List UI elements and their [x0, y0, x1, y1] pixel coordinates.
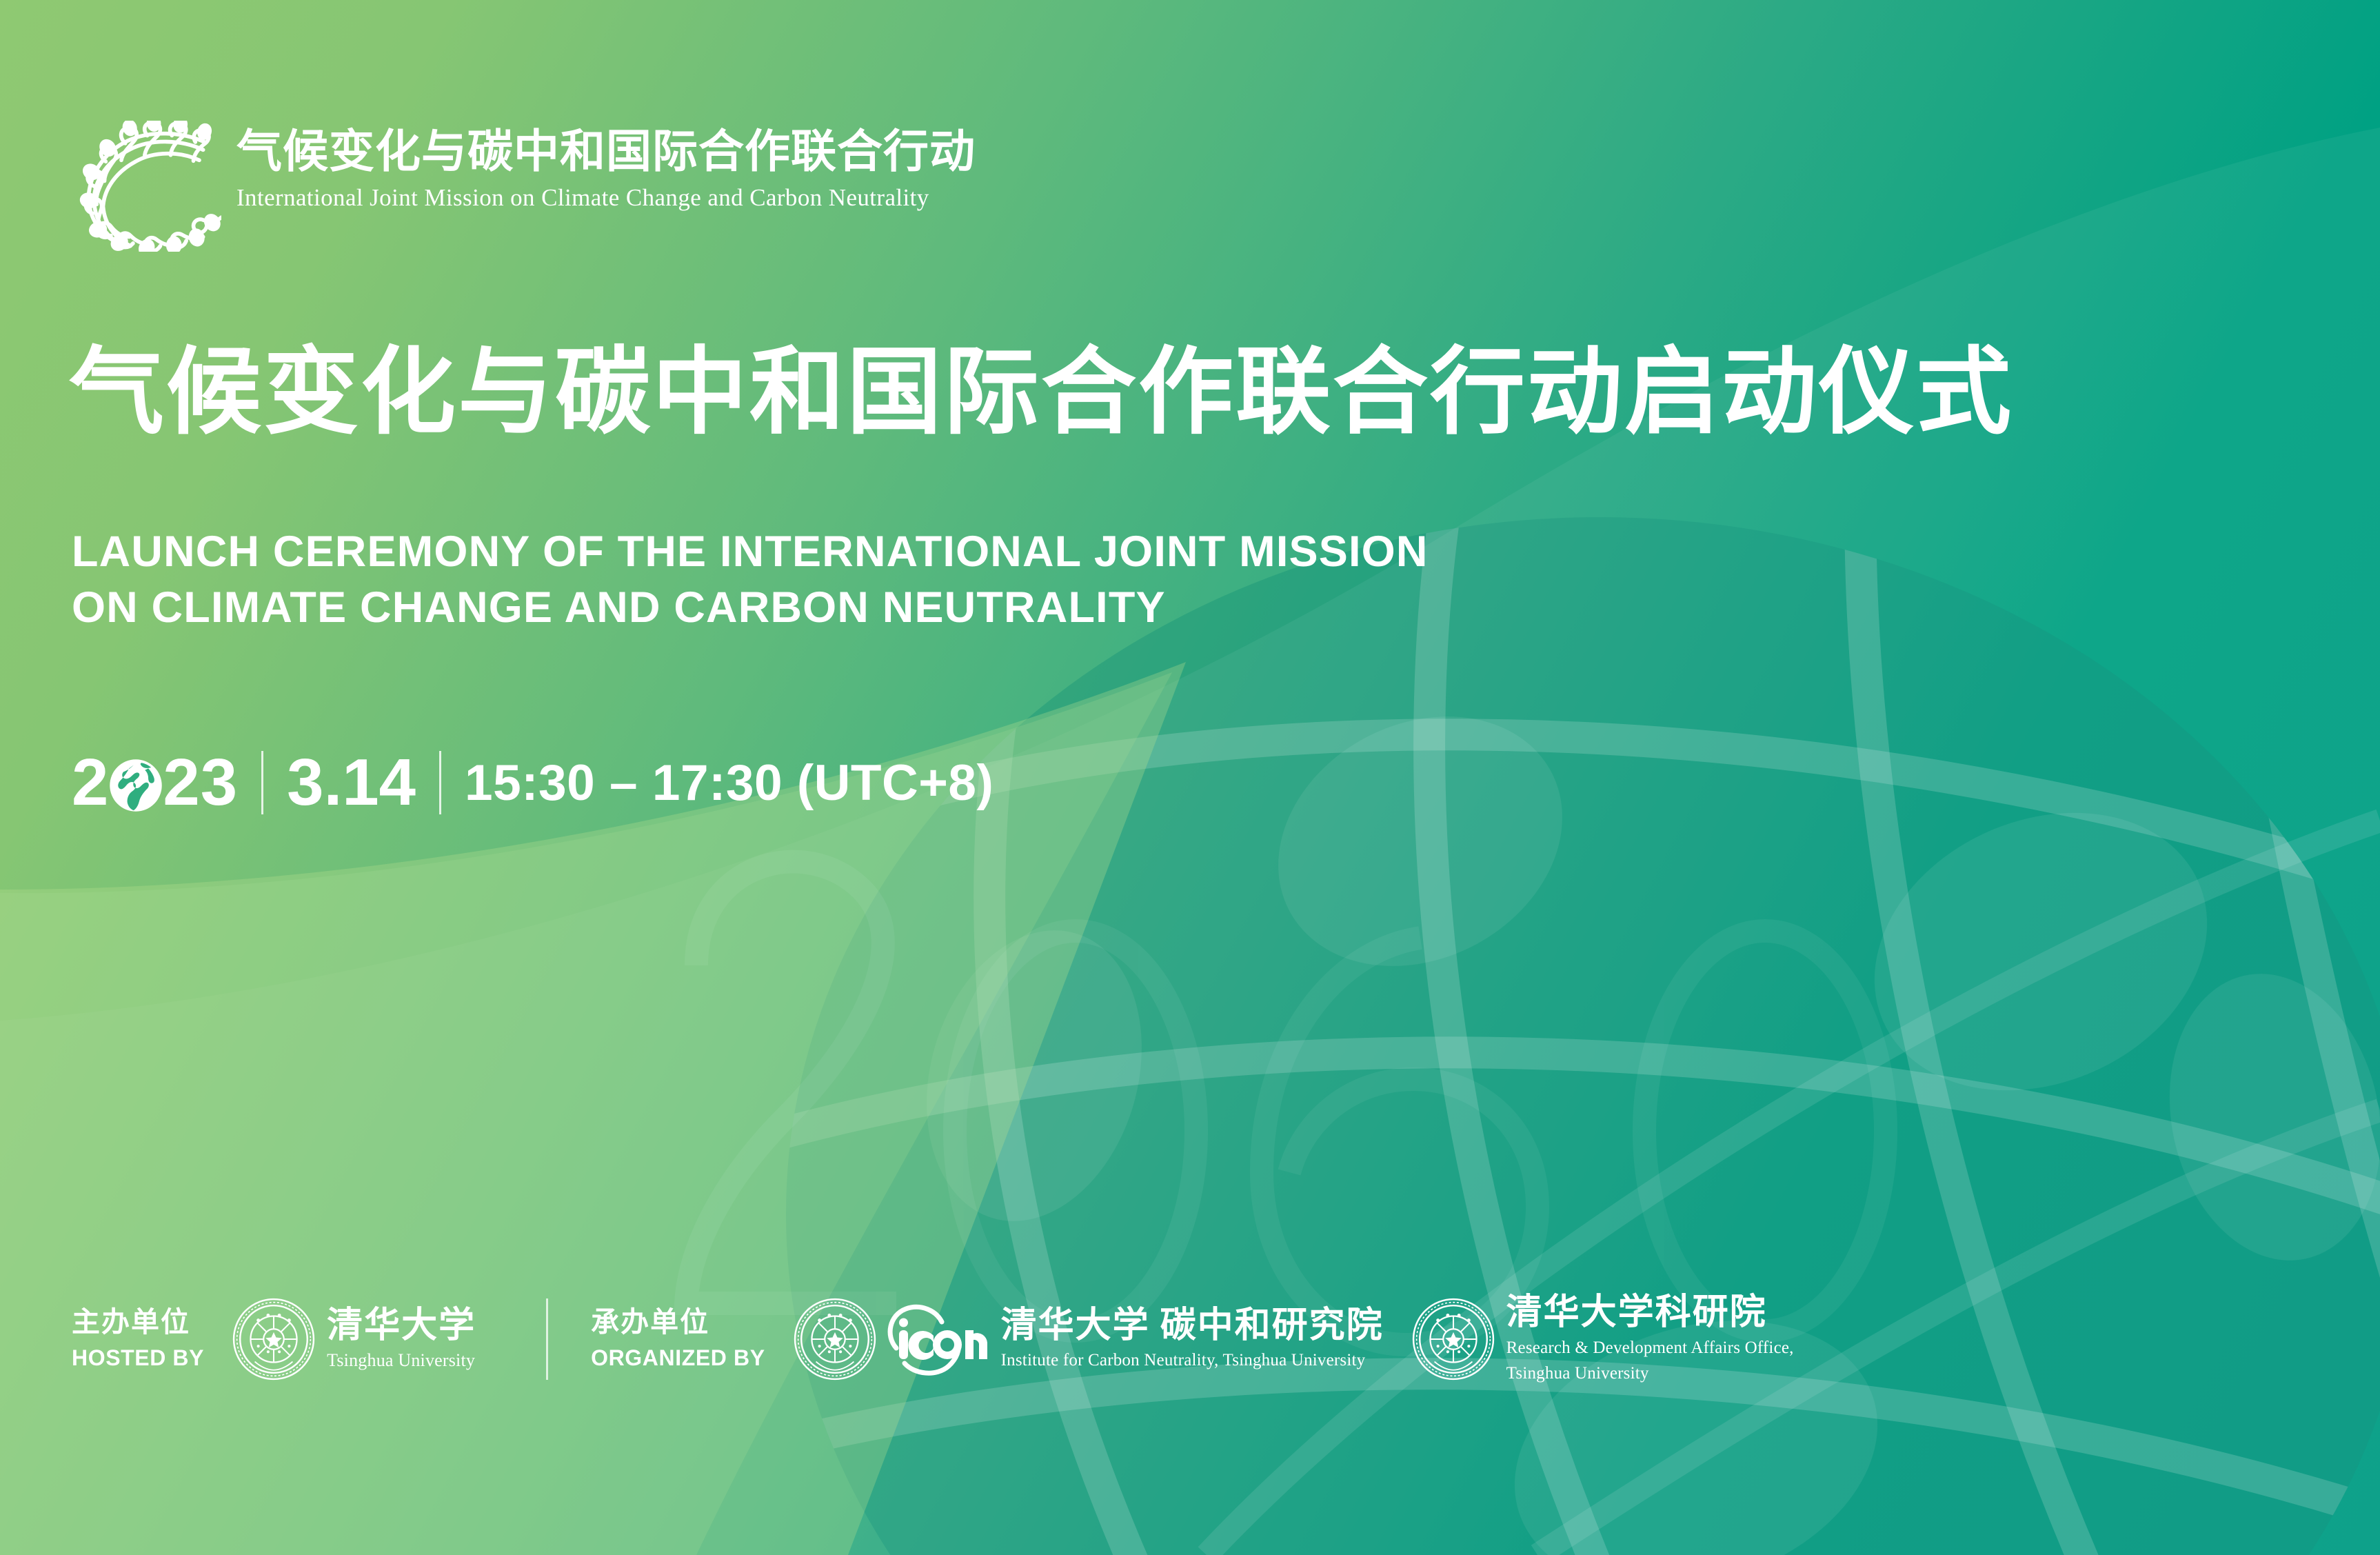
- event-datetime: 2 23 3.14 15:30 – 17:30 (UTC+8): [72, 741, 994, 824]
- tsinghua-university-seal-icon: [1411, 1297, 1495, 1381]
- partner-name-cn: 清华大学 碳中和研究院: [1001, 1307, 1384, 1345]
- event-time: 15:30 – 17:30 (UTC+8): [465, 758, 994, 808]
- icon-wordmark-logo-icon: [884, 1297, 987, 1381]
- hosted-by-label: 主办单位 HOSTED BY: [72, 1307, 204, 1371]
- globe-earth-icon: [108, 757, 164, 814]
- partner-rd-affairs-office: 清华大学科研院 Research & Development Affairs O…: [1411, 1294, 1794, 1383]
- page-title-en-line2: ON CLIMATE CHANGE AND CARBON NEUTRALITY: [72, 580, 1429, 636]
- partner-name-en-line2: Tsinghua University: [1506, 1363, 1794, 1384]
- partner-name-en: Institute for Carbon Neutrality, Tsinghu…: [1001, 1350, 1384, 1371]
- datetime-separator-2: [439, 751, 441, 814]
- event-year-prefix: 2: [72, 750, 109, 816]
- event-year-suffix: 23: [163, 750, 238, 816]
- organized-by-group: 承办单位 ORGANIZED BY: [591, 1294, 1822, 1383]
- hosted-by-group: 主办单位 HOSTED BY: [72, 1297, 503, 1381]
- circle-of-people-c-logo-icon: [65, 121, 221, 252]
- partner-name-cn: 清华大学科研院: [1506, 1294, 1794, 1332]
- organized-by-label: 承办单位 ORGANIZED BY: [591, 1307, 765, 1371]
- partner-bar: 主办单位 HOSTED BY: [72, 1284, 1822, 1394]
- brand-title-cn: 气候变化与碳中和国际合作联合行动: [236, 128, 976, 174]
- datetime-separator-1: [261, 751, 263, 814]
- partner-name-cn: 清华大学: [327, 1307, 476, 1345]
- organized-by-label-cn: 承办单位: [591, 1307, 765, 1337]
- partner-name-en: Tsinghua University: [327, 1350, 476, 1372]
- partner-tsinghua-university: 清华大学 Tsinghua University: [232, 1297, 476, 1381]
- partner-institute-for-carbon-neutrality: 清华大学 碳中和研究院 Institute for Carbon Neutral…: [793, 1297, 1384, 1381]
- event-year: 2 23: [72, 750, 238, 816]
- tsinghua-university-seal-icon: [793, 1297, 877, 1381]
- hosted-by-label-cn: 主办单位: [72, 1307, 204, 1337]
- brand-lockup: 气候变化与碳中和国际合作联合行动 International Joint Mis…: [65, 119, 976, 252]
- partner-group-divider: [546, 1298, 548, 1380]
- hosted-by-label-en: HOSTED BY: [72, 1345, 204, 1371]
- page-title-en: LAUNCH CEREMONY OF THE INTERNATIONAL JOI…: [72, 524, 1429, 635]
- page-title-cn: 气候变化与碳中和国际合作联合行动启动仪式: [69, 345, 2013, 440]
- event-date: 3.14: [287, 750, 416, 816]
- partner-name-en-line1: Research & Development Affairs Office,: [1506, 1338, 1794, 1358]
- page-title-en-line1: LAUNCH CEREMONY OF THE INTERNATIONAL JOI…: [72, 524, 1429, 580]
- event-poster: 气候变化与碳中和国际合作联合行动 International Joint Mis…: [0, 0, 2380, 1555]
- brand-title-en: International Joint Mission on Climate C…: [236, 184, 976, 212]
- tsinghua-university-seal-icon: [232, 1297, 316, 1381]
- organized-by-label-en: ORGANIZED BY: [591, 1345, 765, 1371]
